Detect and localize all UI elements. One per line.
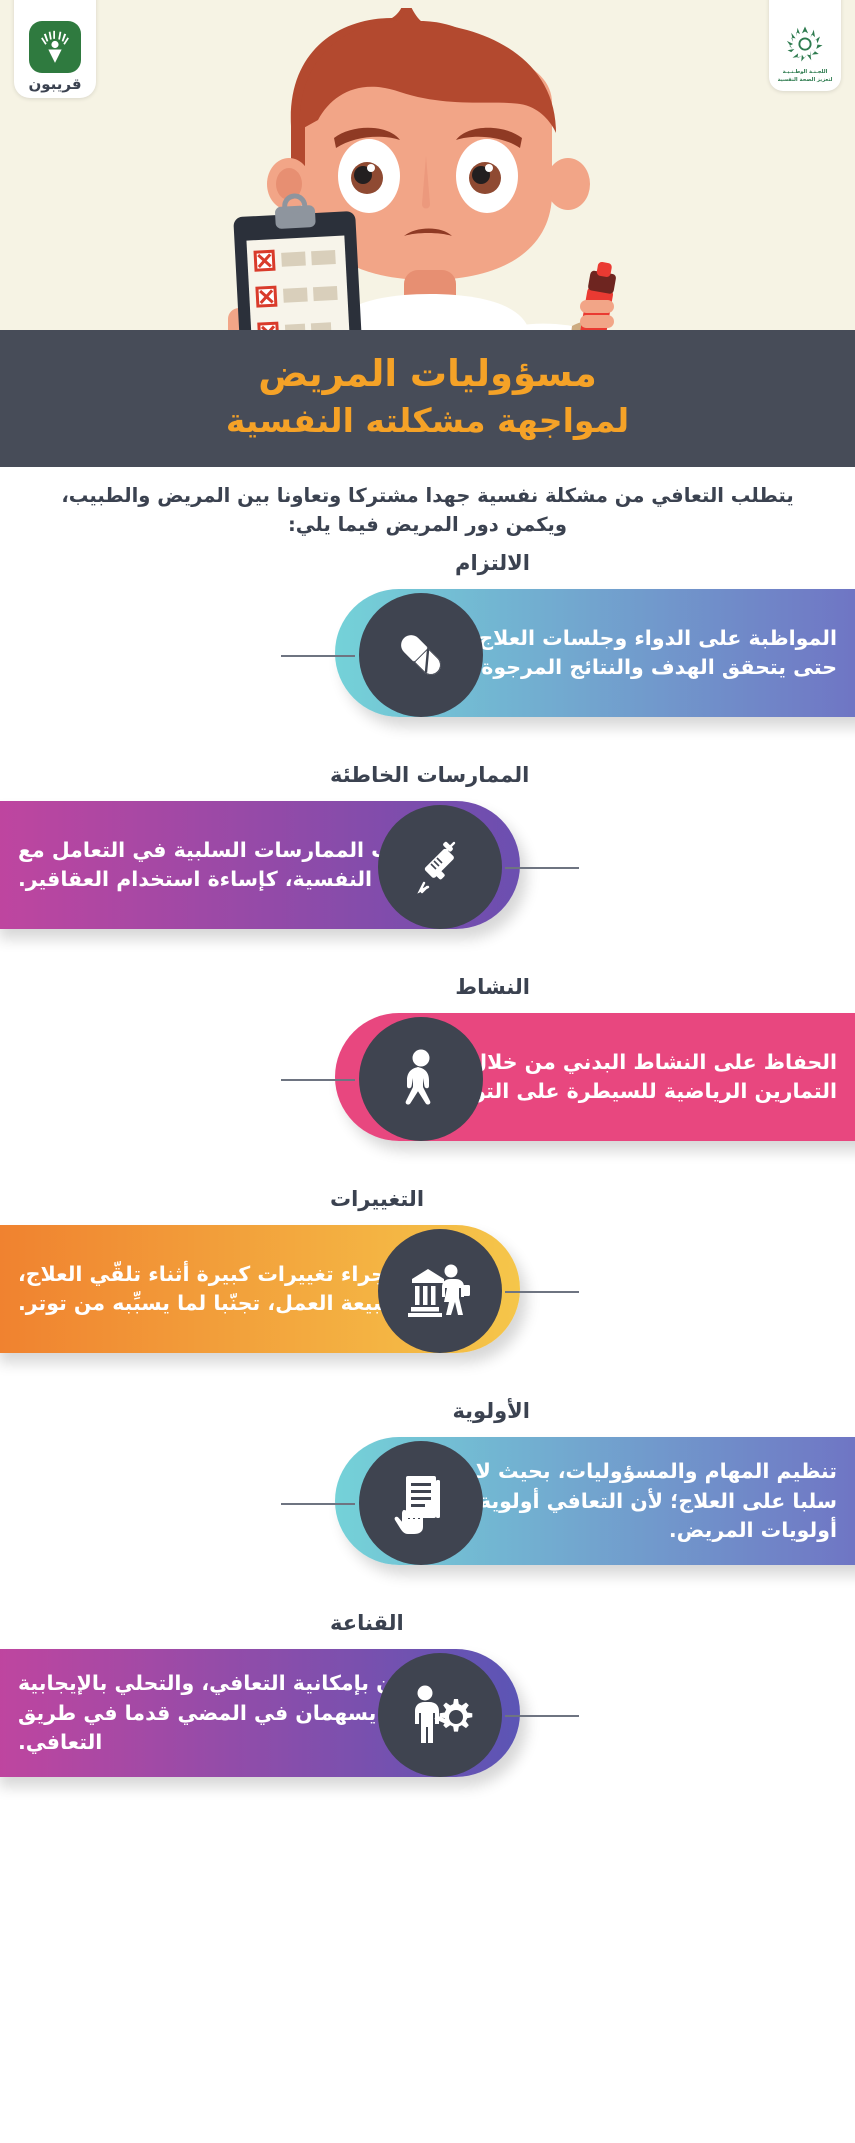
qareeboon-logo: قريبون: [14, 0, 96, 98]
section-row: القناعةالإيمان بإمكانية التعافي، والتحلي…: [0, 1607, 855, 1819]
leaving-workplace-icon: [378, 1229, 502, 1353]
title-banner: مسؤوليات المريض لمواجهة مشكلته النفسية: [0, 330, 855, 467]
section-heading: النشاط: [455, 977, 530, 998]
committee-logo-line1: اللجـنـة الوطـنـيـة: [783, 68, 828, 76]
intro-paragraph: يتطلب التعافي من مشكلة نفسية جهدا مشتركا…: [0, 467, 855, 548]
person-gear-icon: [378, 1653, 502, 1777]
sections-list: الالتزامالمواظبة على الدواء وجلسات العلا…: [0, 547, 855, 1819]
committee-logo-line2: لتعزيز الصحة النفسية: [778, 76, 833, 84]
section-row: التغييراتتجنّب إجراء تغييرات كبيرة أثناء…: [0, 1183, 855, 1395]
page-title-line2: لمواجهة مشكلته النفسية: [20, 402, 835, 441]
hands-person-icon: [35, 27, 75, 67]
section-heading: الالتزام: [455, 553, 530, 574]
section-heading: القناعة: [330, 1613, 404, 1634]
national-committee-logo: اللجـنـة الوطـنـيـة لتعزيز الصحة النفسية: [769, 0, 841, 91]
section-heading: الممارسات الخاطئة: [330, 765, 529, 786]
connector-line: [281, 1503, 355, 1505]
section-row: الالتزامالمواظبة على الدواء وجلسات العلا…: [0, 547, 855, 759]
section-row: الأولويةتنظيم المهام والمسؤوليات، بحيث ل…: [0, 1395, 855, 1607]
infographic-page: اللجـنـة الوطـنـيـة لتعزيز الصحة النفسية: [0, 0, 855, 2143]
syringe-icon: [378, 805, 502, 929]
committee-emblem-icon: [785, 24, 825, 64]
worried-boy-illustration: [0, 8, 855, 330]
connector-line: [281, 1079, 355, 1081]
section-heading: التغييرات: [330, 1189, 424, 1210]
connector-line: [505, 1715, 579, 1717]
connector-line: [505, 1291, 579, 1293]
walking-person-icon: [359, 1017, 483, 1141]
section-heading: الأولوية: [452, 1401, 530, 1422]
document-hand-icon: [359, 1441, 483, 1565]
pill-icon: [359, 593, 483, 717]
section-row: النشاطالحفاظ على النشاط البدني من خلال م…: [0, 971, 855, 1183]
connector-line: [281, 655, 355, 657]
hero-illustration-area: اللجـنـة الوطـنـيـة لتعزيز الصحة النفسية: [0, 0, 855, 330]
qareeboon-caption: قريبون: [28, 77, 81, 92]
page-title-line1: مسؤوليات المريض: [20, 352, 835, 396]
qareeboon-mark: [29, 21, 81, 73]
connector-line: [505, 867, 579, 869]
section-row: الممارسات الخاطئةتجنّب الممارسات السلبية…: [0, 759, 855, 971]
